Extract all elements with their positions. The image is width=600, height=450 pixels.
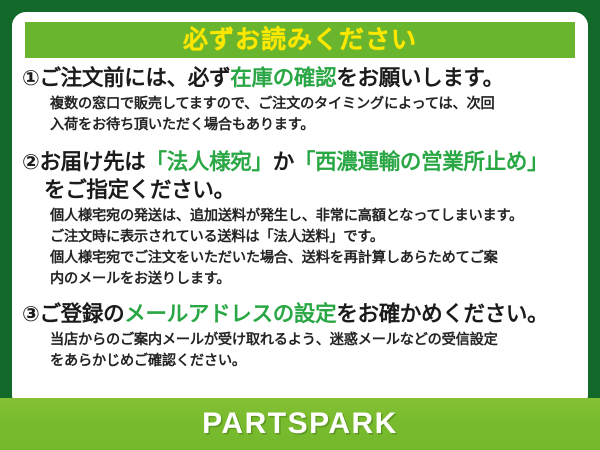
item-2-body: 個人様宅宛の発送は、追加送料が発生し、非常に高額となってしまいます。 ご注文時に… xyxy=(22,206,580,290)
item-1-heading: ①ご注文前には、必ず在庫の確認をお願いします。 xyxy=(22,64,580,93)
notice-panel: 必ずお読みください ①ご注文前には、必ず在庫の確認をお願いします。 複数の窓口で… xyxy=(12,12,588,405)
item-1-heading-pre: ご注文前には、必ず xyxy=(39,66,230,90)
notice-item-2: ②お届け先は「法人様宛」か「西濃運輸の営業所止め」 をご指定ください。 個人様宅… xyxy=(22,148,580,290)
notice-banner: 必ずお読みください ①ご注文前には、必ず在庫の確認をお願いします。 複数の窓口で… xyxy=(0,0,600,450)
footer-band: PARTSPARK xyxy=(0,398,600,450)
notice-item-list: ①ご注文前には、必ず在庫の確認をお願いします。 複数の窓口で販売してますので、ご… xyxy=(12,64,588,372)
item-2-heading-mid: か xyxy=(273,150,294,174)
notice-item-3: ③ご登録のメールアドレスの設定をお確かめください。 当店からのご案内メールが受け… xyxy=(22,300,580,372)
brand-logo: PARTSPARK xyxy=(202,409,398,439)
item-2-body-line-4: 内のメールをお送りします。 xyxy=(50,269,580,290)
item-2-heading-pre: お届け先は xyxy=(39,150,145,174)
header-bar: 必ずお読みください xyxy=(25,22,575,58)
item-1-body-line-2: 入荷をお待ち頂いただく場合もあります。 xyxy=(50,115,580,136)
item-2-heading-highlight-2: 「西濃運輸の営業所止め」 xyxy=(294,150,548,174)
item-3-heading-post: をお確かめください。 xyxy=(336,302,548,326)
item-3-heading-pre: ご登録の xyxy=(39,302,124,326)
item-3-body-line-2: をあらかじめご確認ください。 xyxy=(50,351,580,372)
item-3-body: 当店からのご案内メールが受け取れるよう、迷惑メールなどの受信設定 をあらかじめご… xyxy=(22,330,580,372)
item-3-body-line-1: 当店からのご案内メールが受け取れるよう、迷惑メールなどの受信設定 xyxy=(50,330,580,351)
item-1-heading-highlight: 在庫の確認 xyxy=(230,66,336,90)
item-3-marker: ③ xyxy=(22,303,39,326)
item-1-heading-post: をお願いします。 xyxy=(336,66,503,90)
item-2-marker: ② xyxy=(22,151,39,174)
item-3-heading: ③ご登録のメールアドレスの設定をお確かめください。 xyxy=(22,300,580,329)
item-3-heading-highlight: メールアドレスの設定 xyxy=(124,302,336,326)
item-2-body-line-2: ご注文時に表示されている送料は「法人送料」です。 xyxy=(50,227,580,248)
item-1-marker: ① xyxy=(22,67,39,90)
item-1-body: 複数の窓口で販売してますので、ご注文のタイミングによっては、次回 入荷をお待ち頂… xyxy=(22,94,580,136)
item-2-heading-line-2: をご指定ください。 xyxy=(22,176,580,204)
item-2-heading: ②お届け先は「法人様宛」か「西濃運輸の営業所止め」 xyxy=(22,148,580,177)
page-title: 必ずお読みください xyxy=(183,28,417,53)
notice-item-1: ①ご注文前には、必ず在庫の確認をお願いします。 複数の窓口で販売してますので、ご… xyxy=(22,64,580,136)
item-1-body-line-1: 複数の窓口で販売してますので、ご注文のタイミングによっては、次回 xyxy=(50,94,580,115)
item-2-body-line-1: 個人様宅宛の発送は、追加送料が発生し、非常に高額となってしまいます。 xyxy=(50,206,580,227)
item-2-heading-highlight: 「法人様宛」 xyxy=(146,150,273,174)
item-2-body-line-3: 個人様宅宛でご注文をいただいた場合、送料を再計算しあらためてご案 xyxy=(50,248,580,269)
